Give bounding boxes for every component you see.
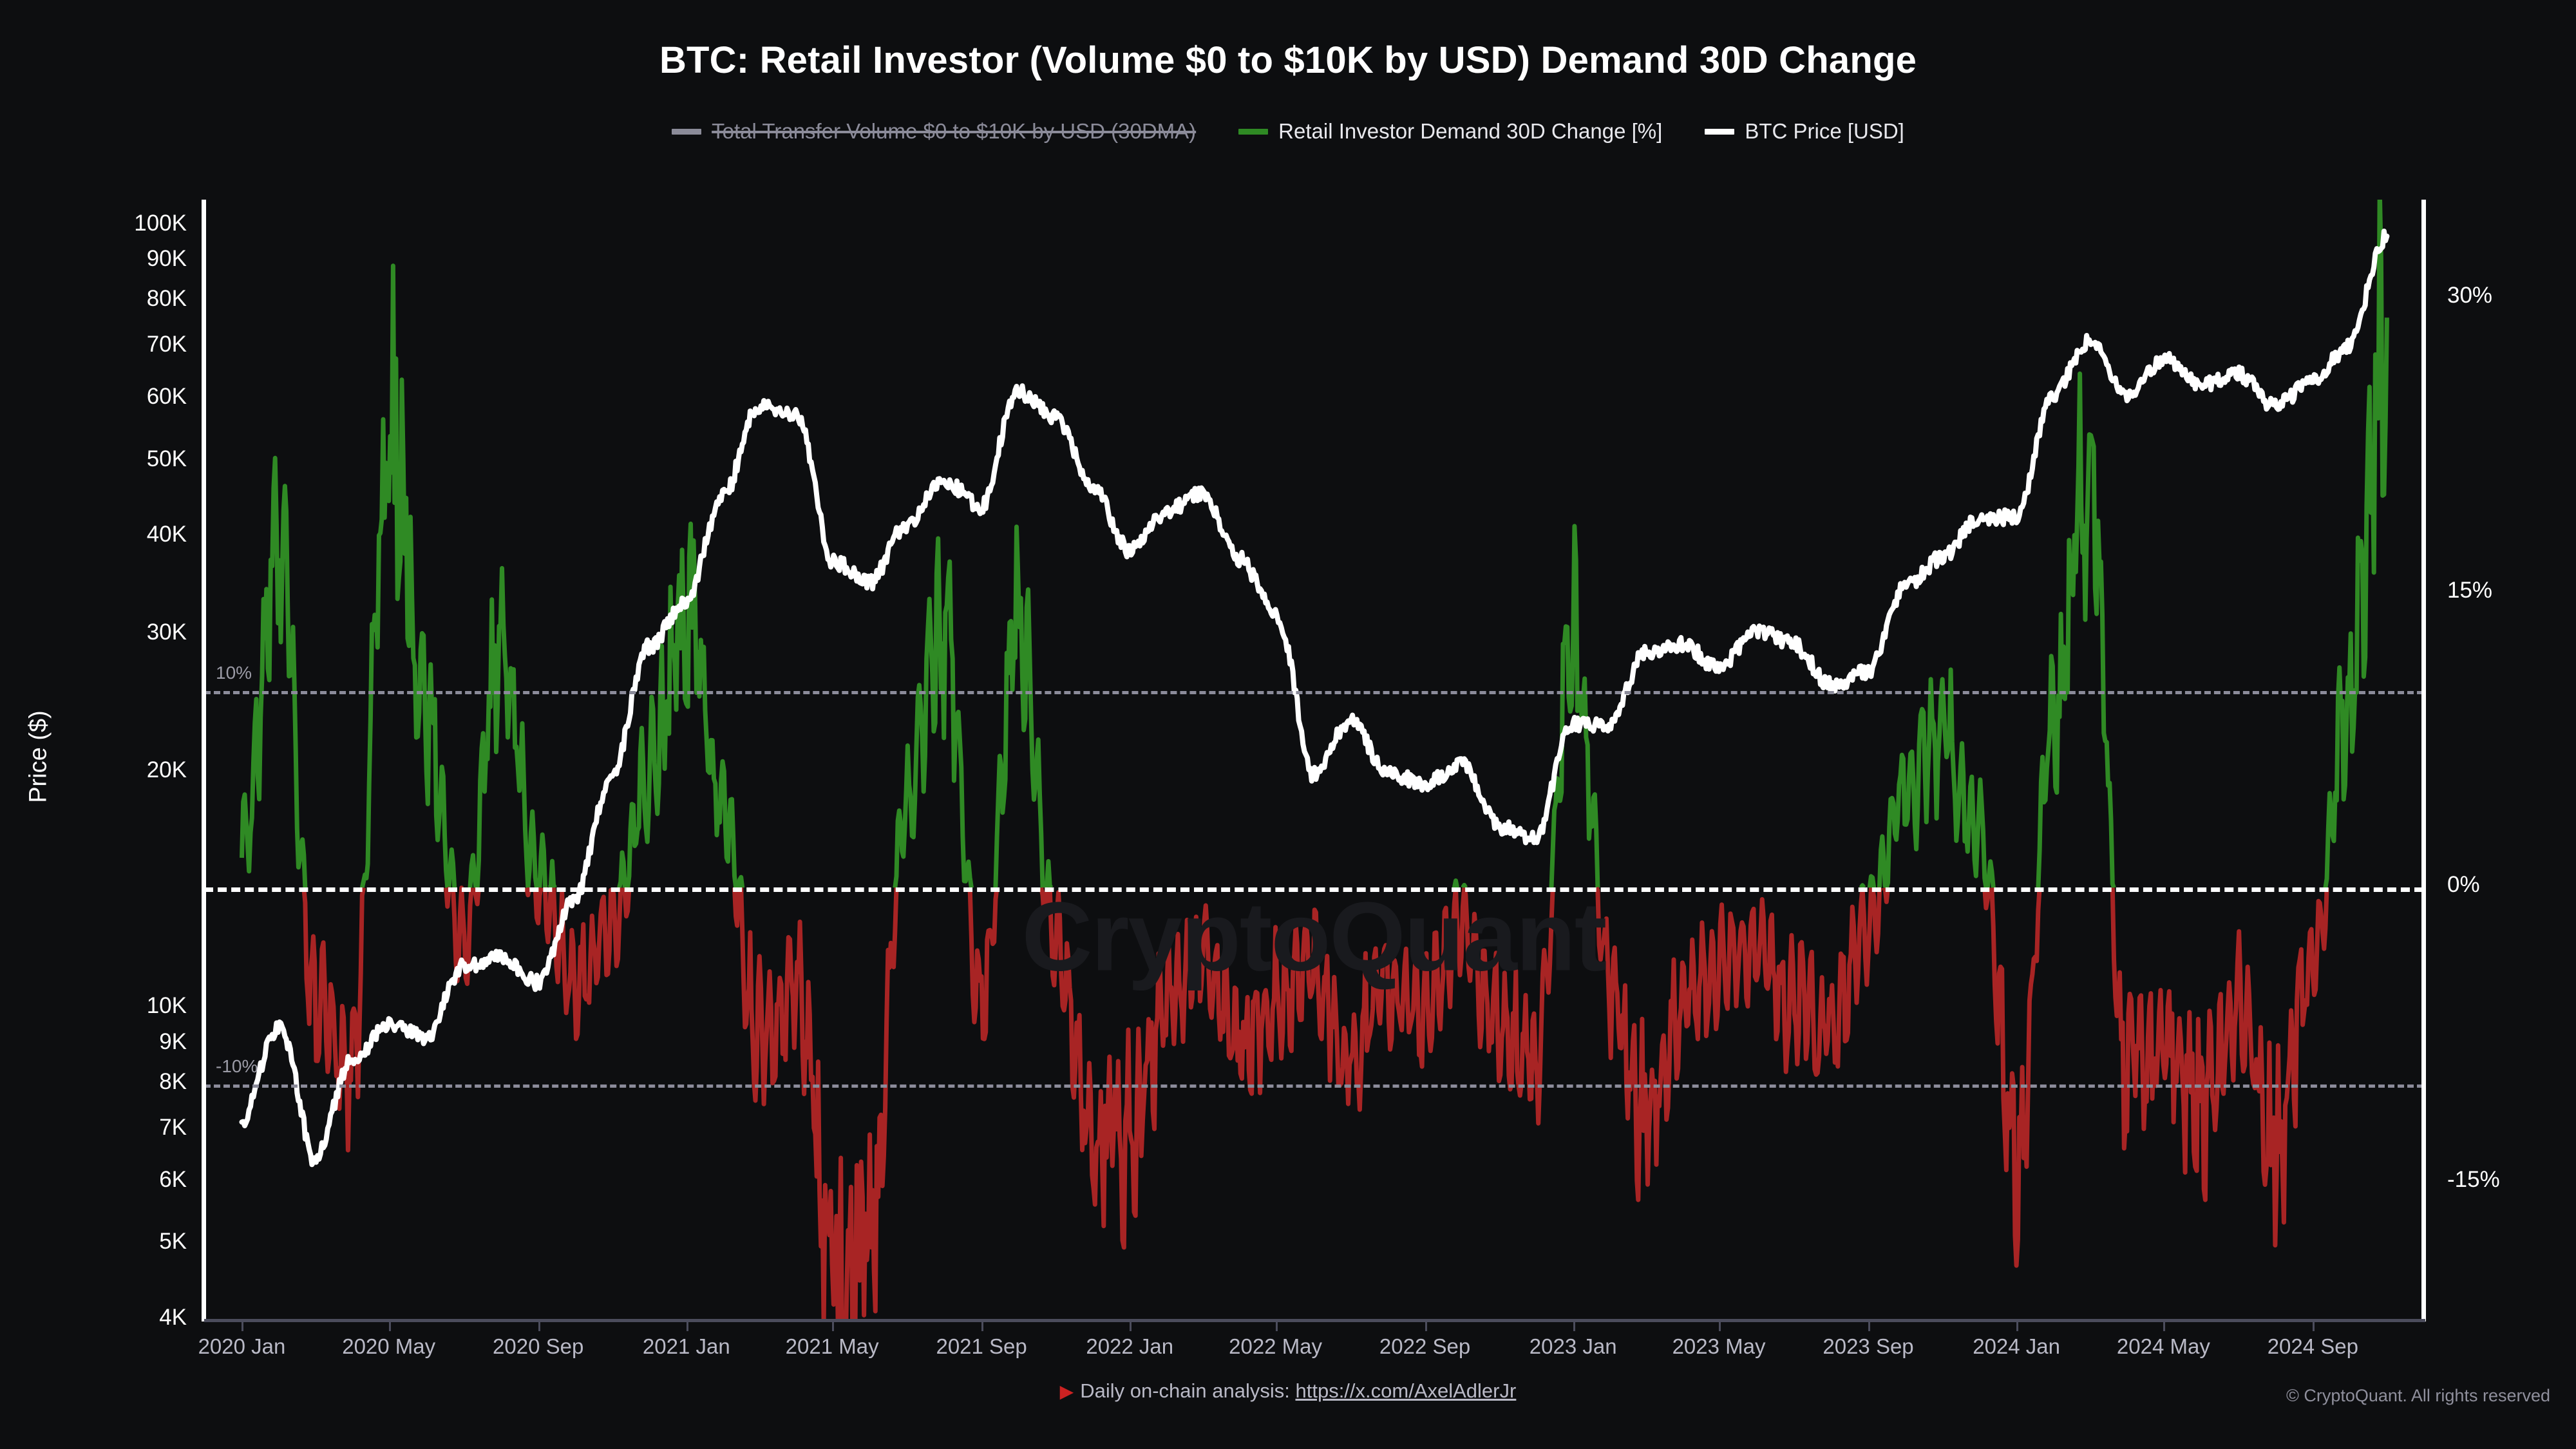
series-retail-demand-positive: [242, 200, 2387, 887]
x-tick-mark: [2313, 1322, 2315, 1331]
x-tick: 2020 May: [342, 1334, 435, 1359]
x-tick-mark: [1573, 1322, 1575, 1331]
x-tick-mark: [1719, 1322, 1721, 1331]
y-tick-right: 15%: [2447, 578, 2492, 603]
chart-canvas: BTC: Retail Investor (Volume $0 to $10K …: [0, 0, 2576, 1449]
y-axis-left-spine: [202, 200, 206, 1321]
y-axis-right-spine: [2421, 200, 2426, 1321]
legend-item-retail-demand[interactable]: Retail Investor Demand 30D Change [%]: [1238, 119, 1662, 144]
x-tick-mark: [1130, 1322, 1132, 1331]
legend-label-btc-price: BTC Price [USD]: [1745, 119, 1904, 144]
y-tick-left: 6K: [77, 1167, 187, 1193]
y-tick-left: 7K: [77, 1115, 187, 1141]
x-tick: 2024 May: [2117, 1334, 2210, 1359]
legend-swatch-retail-demand: [1238, 129, 1268, 135]
footer-link[interactable]: https://x.com/AxelAdlerJr: [1295, 1379, 1516, 1402]
x-tick-mark: [832, 1322, 834, 1331]
legend-item-total-transfer-volume[interactable]: Total Transfer Volume $0 to $10K by USD …: [672, 119, 1196, 144]
x-tick: 2023 Jan: [1529, 1334, 1617, 1359]
y-tick-left: 20K: [77, 757, 187, 783]
x-tick: 2022 May: [1229, 1334, 1322, 1359]
page-title: BTC: Retail Investor (Volume $0 to $10K …: [0, 39, 2576, 82]
reference-line-label: -10%: [216, 1056, 258, 1077]
legend-label-retail-demand: Retail Investor Demand 30D Change [%]: [1278, 119, 1662, 144]
play-arrow-icon: ▶: [1060, 1381, 1074, 1401]
x-tick: 2024 Sep: [2268, 1334, 2358, 1359]
series-plot: [204, 200, 2423, 1320]
y-tick-left: 30K: [77, 620, 187, 645]
x-tick-mark: [2163, 1322, 2165, 1331]
footer-note: ▶Daily on-chain analysis: https://x.com/…: [0, 1379, 2576, 1403]
y-tick-left: 4K: [77, 1305, 187, 1331]
legend-swatch-btc-price: [1705, 129, 1734, 135]
x-tick-mark: [389, 1322, 391, 1331]
y-tick-left: 90K: [77, 246, 187, 272]
reference-line-zero: [204, 887, 2423, 892]
y-tick-left: 100K: [77, 211, 187, 236]
y-tick-left: 80K: [77, 286, 187, 312]
x-tick: 2021 Jan: [643, 1334, 730, 1359]
x-tick: 2020 Jan: [198, 1334, 286, 1359]
y-axis-left-title: Price ($): [25, 710, 53, 803]
y-tick-left: 60K: [77, 384, 187, 410]
y-tick-left: 50K: [77, 446, 187, 472]
reference-line--10%: [204, 1084, 2423, 1088]
y-tick-left: 10K: [77, 993, 187, 1019]
y-tick-left: 40K: [77, 522, 187, 547]
x-tick-mark: [1425, 1322, 1427, 1331]
x-tick-mark: [1868, 1322, 1870, 1331]
plot-area: CryptoQuant 10%-10%: [204, 200, 2423, 1320]
footer-note-text: Daily on-chain analysis:: [1080, 1379, 1290, 1402]
y-tick-right: -15%: [2447, 1167, 2500, 1193]
y-tick-left: 70K: [77, 332, 187, 357]
x-tick: 2024 Jan: [1973, 1334, 2060, 1359]
legend-swatch-total-transfer-volume: [672, 129, 701, 135]
x-tick: 2022 Jan: [1086, 1334, 1173, 1359]
x-tick-mark: [687, 1322, 688, 1331]
x-tick: 2021 May: [786, 1334, 879, 1359]
series-retail-demand-negative: [304, 887, 2327, 1320]
legend-label-total-transfer-volume: Total Transfer Volume $0 to $10K by USD …: [712, 119, 1196, 144]
x-tick: 2021 Sep: [936, 1334, 1027, 1359]
y-tick-left: 5K: [77, 1229, 187, 1255]
y-tick-right: 30%: [2447, 283, 2492, 308]
x-tick: 2023 May: [1672, 1334, 1766, 1359]
reference-line-label: 10%: [216, 663, 252, 683]
x-tick-mark: [981, 1322, 983, 1331]
x-tick-mark: [241, 1322, 243, 1331]
x-tick: 2022 Sep: [1379, 1334, 1470, 1359]
y-tick-left: 8K: [77, 1069, 187, 1095]
y-tick-left: 9K: [77, 1029, 187, 1055]
x-tick-mark: [2016, 1322, 2018, 1331]
x-tick-mark: [538, 1322, 540, 1331]
x-tick: 2020 Sep: [493, 1334, 583, 1359]
x-axis-spine: [204, 1319, 2425, 1322]
x-tick-mark: [1276, 1322, 1278, 1331]
chart-legend: Total Transfer Volume $0 to $10K by USD …: [0, 119, 2576, 144]
reference-line-10%: [204, 691, 2423, 694]
legend-item-btc-price[interactable]: BTC Price [USD]: [1705, 119, 1904, 144]
y-tick-right: 0%: [2447, 872, 2480, 898]
x-tick: 2023 Sep: [1823, 1334, 1913, 1359]
copyright-text: © CryptoQuant. All rights reserved: [2286, 1386, 2550, 1406]
